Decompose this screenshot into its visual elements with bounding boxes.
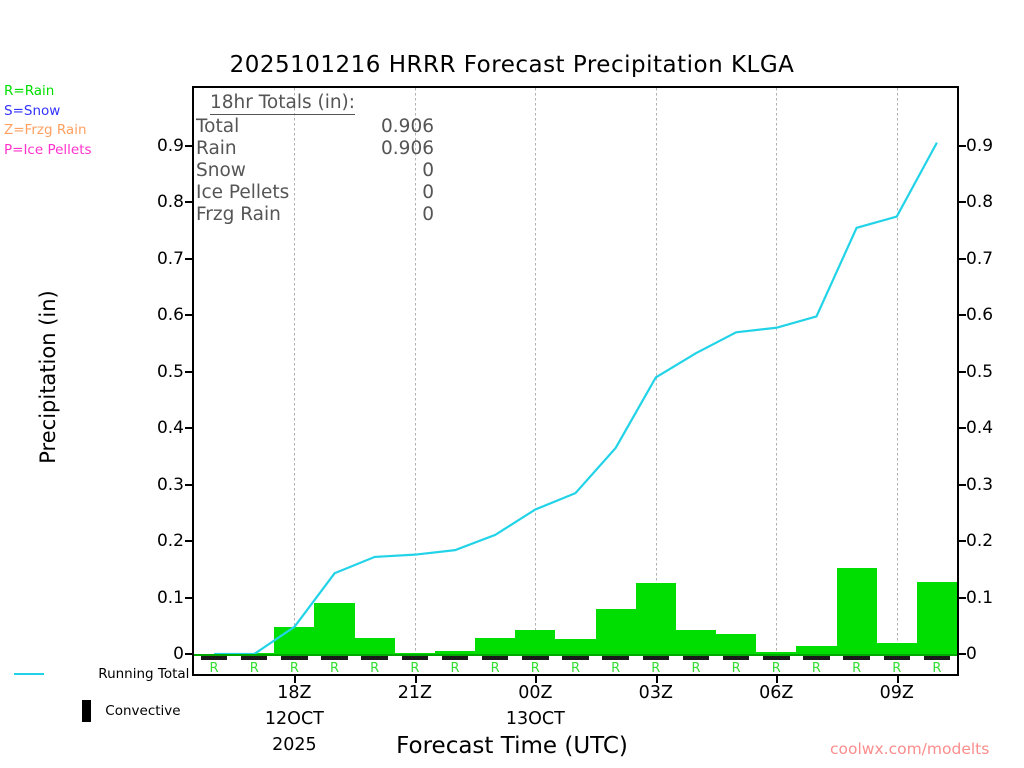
x-tick-label: 03Z xyxy=(639,683,673,703)
x-axis: 18Z12OCT202521Z00Z13OCT03Z06Z09Z xyxy=(0,0,1024,768)
x-axis-label: Forecast Time (UTC) xyxy=(192,733,832,759)
x-tick-mark xyxy=(294,676,296,683)
x-tick-label: 00Z xyxy=(518,683,552,703)
x-tick-mark xyxy=(776,676,778,683)
x-tick-label: 09Z xyxy=(880,683,914,703)
x-tick-mark xyxy=(535,676,537,683)
x-tick-mark xyxy=(656,676,658,683)
running-total-swatch xyxy=(14,673,44,675)
convective-swatch xyxy=(82,700,91,722)
x-tick-mark xyxy=(897,676,899,683)
x-tick-label: 21Z xyxy=(398,683,432,703)
x-tick-label: 06Z xyxy=(759,683,793,703)
x-tick-label: 18Z xyxy=(277,683,311,703)
x-tick-sublabel: 12OCT xyxy=(265,709,324,729)
legend-convective-label: Convective xyxy=(105,703,180,719)
legend-running-total-label: Running Total xyxy=(98,666,189,682)
legend-convective: Convective xyxy=(14,700,181,722)
x-tick-sublabel: 13OCT xyxy=(506,709,565,729)
x-tick-mark xyxy=(415,676,417,683)
watermark: coolwx.com/modelts xyxy=(830,740,989,758)
legend-running-total: Running Total xyxy=(14,666,189,682)
